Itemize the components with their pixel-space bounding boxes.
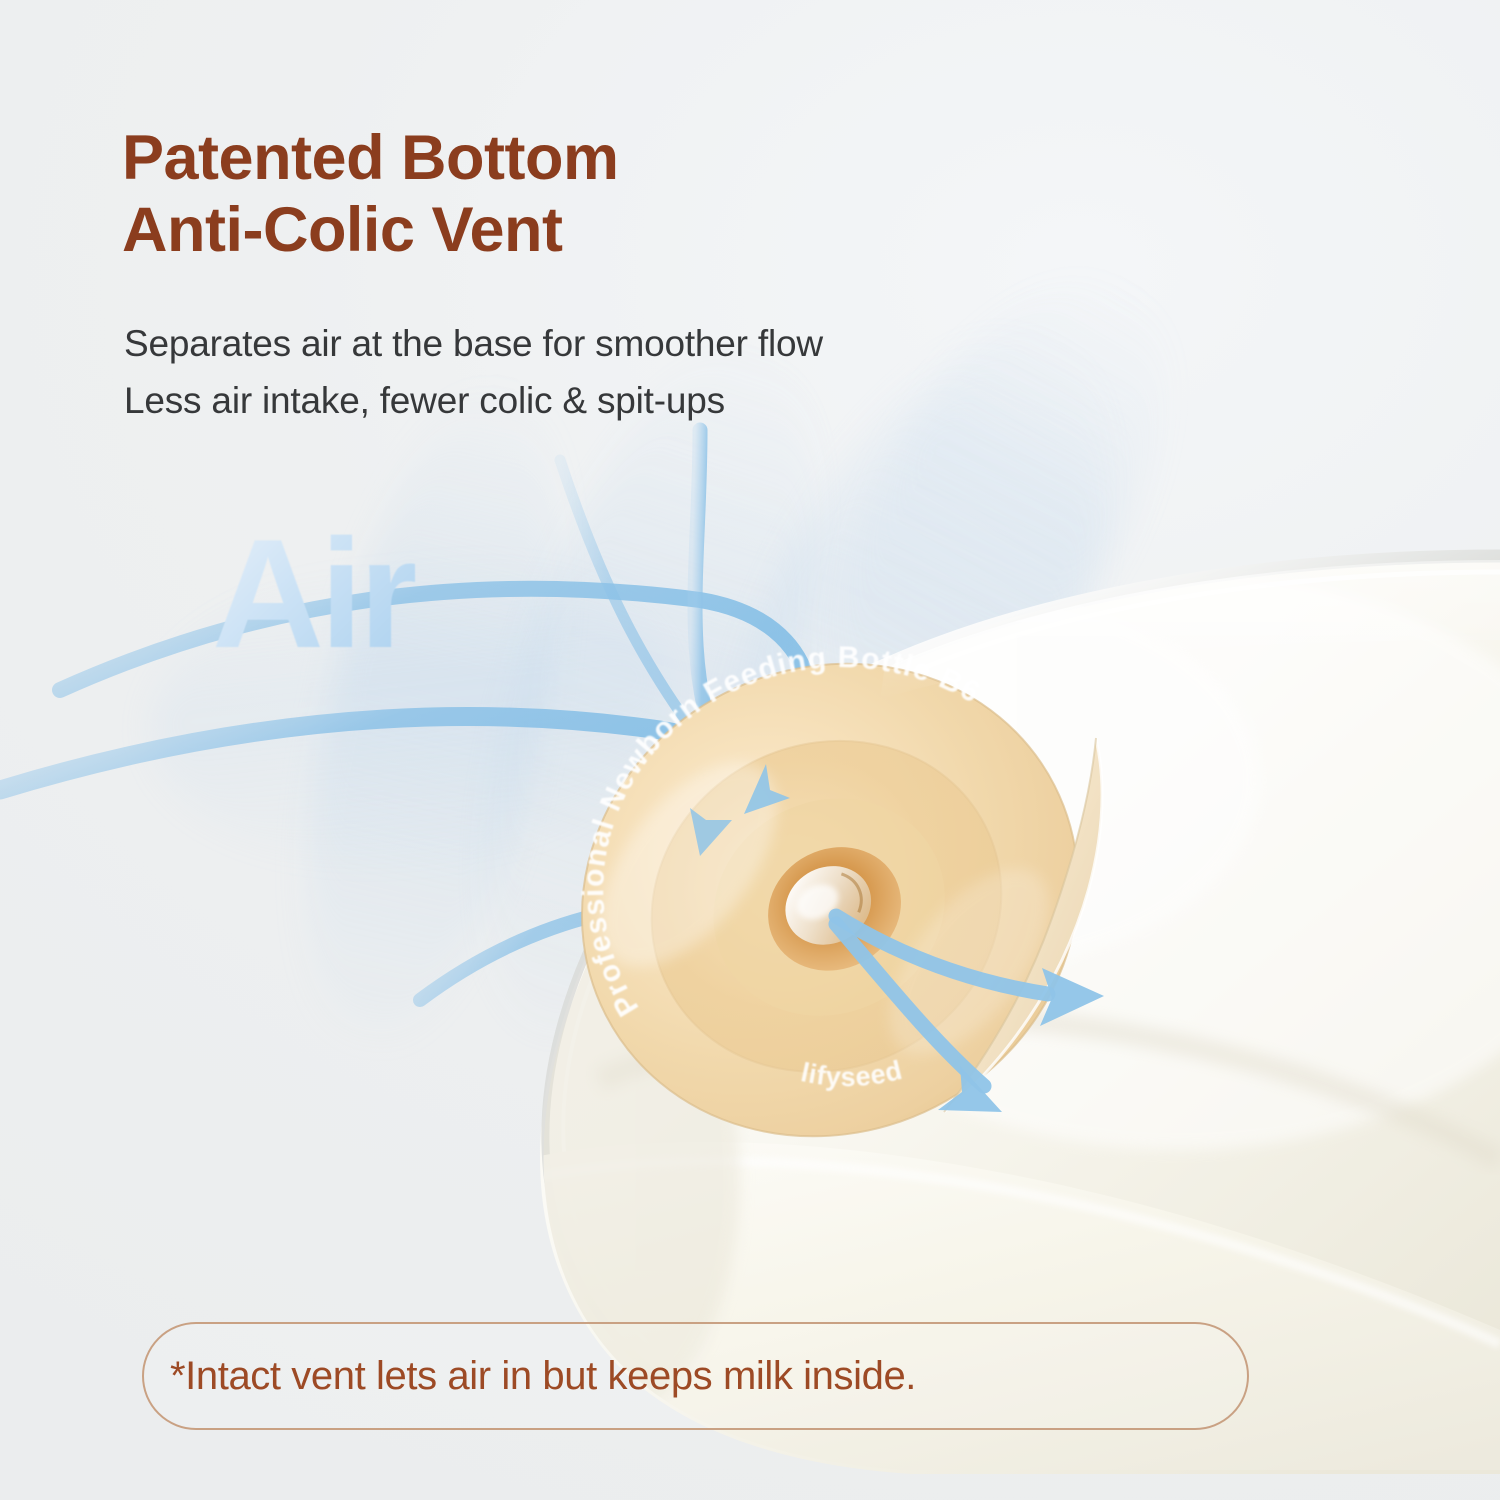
footnote-text: *Intact vent lets air in but keeps milk …	[170, 1354, 916, 1399]
subtitle-text: Separates air at the base for smoother f…	[124, 315, 823, 430]
air-watermark-label: Air	[212, 505, 415, 683]
footnote-callout: *Intact vent lets air in but keeps milk …	[142, 1322, 1249, 1430]
product-feature-image: Professional Newborn Feeding Bottle B6 l…	[0, 0, 1500, 1500]
page-title: Patented Bottom Anti-Colic Vent	[122, 122, 619, 267]
